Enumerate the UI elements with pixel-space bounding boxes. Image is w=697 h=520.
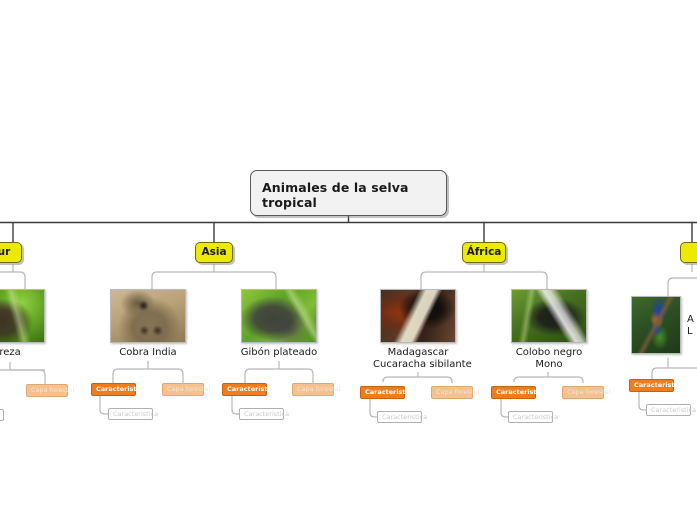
pill-caracteristicas-madagascar-cucaracha[interactable]: Caracteristicas	[360, 386, 405, 399]
animal-node-pereza[interactable]: ereza	[0, 289, 52, 359]
branch-node-asia[interactable]: Asia	[195, 242, 233, 263]
caption-line: ereza	[0, 347, 21, 358]
caption-line: Cucaracha sibilante	[373, 359, 463, 371]
branch-node-sur-label: ur	[0, 246, 10, 258]
branch-node-africa[interactable]: África	[462, 242, 506, 263]
caption-line: Colobo negro	[504, 347, 594, 359]
cobra-photo	[110, 289, 186, 343]
pill-caracteristicas-colobo-negro-mono[interactable]: Caracteristicas	[491, 386, 536, 399]
branch-node-africa-label: África	[467, 246, 502, 258]
pill-capa-forestal-gibon-plateado[interactable]: Capa forestal	[292, 383, 334, 396]
pill-capa-forestal-madagascar-cucaracha[interactable]: Capa forestal	[431, 386, 473, 399]
caption-line: L	[687, 326, 694, 338]
pill-capa-forestal-colobo-negro-mono[interactable]: Capa forestal	[562, 386, 604, 399]
animal-node-gibon-plateado-caption: Gibón plateado	[234, 347, 324, 359]
branch-node-oceania[interactable]	[680, 242, 697, 263]
animal-node-pereza-caption: ereza	[0, 347, 52, 359]
mindmap-canvas[interactable]: Animales de la selva tropical ur Asia Áf…	[0, 0, 697, 520]
pill-label: Caracteristicas	[365, 388, 420, 396]
animal-node-cobra-india-caption: Cobra India	[103, 347, 193, 359]
branch-node-asia-label: Asia	[201, 246, 226, 258]
animal-node-gibon-plateado[interactable]: Gibón plateado	[234, 289, 324, 359]
animal-node-cobra-india[interactable]: Cobra India	[103, 289, 193, 359]
pill-caracteristica-gibon-plateado[interactable]: Caracteristica	[239, 408, 284, 420]
animal-node-lorikeet-caption: A L	[687, 314, 694, 338]
pill-capa-forestal-cobra-india[interactable]: Capa forestal	[162, 383, 204, 396]
pill-label: Capa forestal	[567, 388, 610, 396]
caption-line: Cobra India	[119, 347, 176, 358]
pill-label: Caracteristica	[244, 410, 289, 418]
gibbon-photo	[241, 289, 317, 343]
colobus-photo	[511, 289, 587, 343]
pill-label: Capa forestal	[297, 385, 340, 393]
pill-caracteristica-pereza[interactable]: tica	[0, 409, 4, 421]
pill-label: Caracteristicas	[96, 385, 151, 393]
pill-caracteristicas-gibon-plateado[interactable]: Caracteristicas	[222, 383, 267, 396]
pill-label: Caracteristicas	[496, 388, 551, 396]
animal-node-lorikeet[interactable]: A L	[631, 296, 697, 354]
pill-label: Capa forestal	[436, 388, 479, 396]
pill-caracteristica-lorikeet[interactable]: Caracteristica	[646, 404, 691, 416]
animal-node-madagascar-cucaracha[interactable]: Madagascar Cucaracha sibilante	[373, 289, 463, 371]
sloth-photo	[0, 289, 45, 343]
parrot-photo	[631, 296, 681, 354]
root-node-label: Animales de la selva tropical	[262, 180, 409, 210]
pill-label: Caracteristica	[382, 413, 427, 421]
pill-capa-forestal-pereza[interactable]: Capa forestal	[26, 384, 68, 397]
pill-caracteristicas-lorikeet[interactable]: Caracteristicas	[629, 379, 674, 392]
pill-caracteristicas-cobra-india[interactable]: Caracteristicas	[91, 383, 136, 396]
caption-line: A	[687, 314, 694, 326]
pill-label: Capa forestal	[31, 386, 74, 394]
pill-label: Caracteristica	[513, 413, 558, 421]
caption-line: Mono	[504, 359, 594, 371]
pill-caracteristica-cobra-india[interactable]: Caracteristica	[108, 408, 153, 420]
cockroach-photo	[380, 289, 456, 343]
pill-caracteristica-madagascar-cucaracha[interactable]: Caracteristica	[377, 411, 422, 423]
animal-node-colobo-negro-mono-caption: Colobo negro Mono	[504, 347, 594, 371]
animal-node-madagascar-cucaracha-caption: Madagascar Cucaracha sibilante	[373, 347, 463, 371]
pill-label: Caracteristica	[651, 406, 696, 414]
pill-label: Capa forestal	[167, 385, 210, 393]
pill-label: Caracteristica	[113, 410, 158, 418]
caption-line: Gibón plateado	[241, 347, 317, 358]
branch-node-sur[interactable]: ur	[0, 242, 22, 263]
pill-label: Caracteristicas	[634, 381, 689, 389]
pill-label: Caracteristicas	[227, 385, 282, 393]
animal-node-colobo-negro-mono[interactable]: Colobo negro Mono	[504, 289, 594, 371]
connector-wires	[0, 0, 697, 520]
root-node[interactable]: Animales de la selva tropical	[250, 170, 447, 216]
pill-caracteristica-colobo-negro-mono[interactable]: Caracteristica	[508, 411, 553, 423]
caption-line: Madagascar	[373, 347, 463, 359]
